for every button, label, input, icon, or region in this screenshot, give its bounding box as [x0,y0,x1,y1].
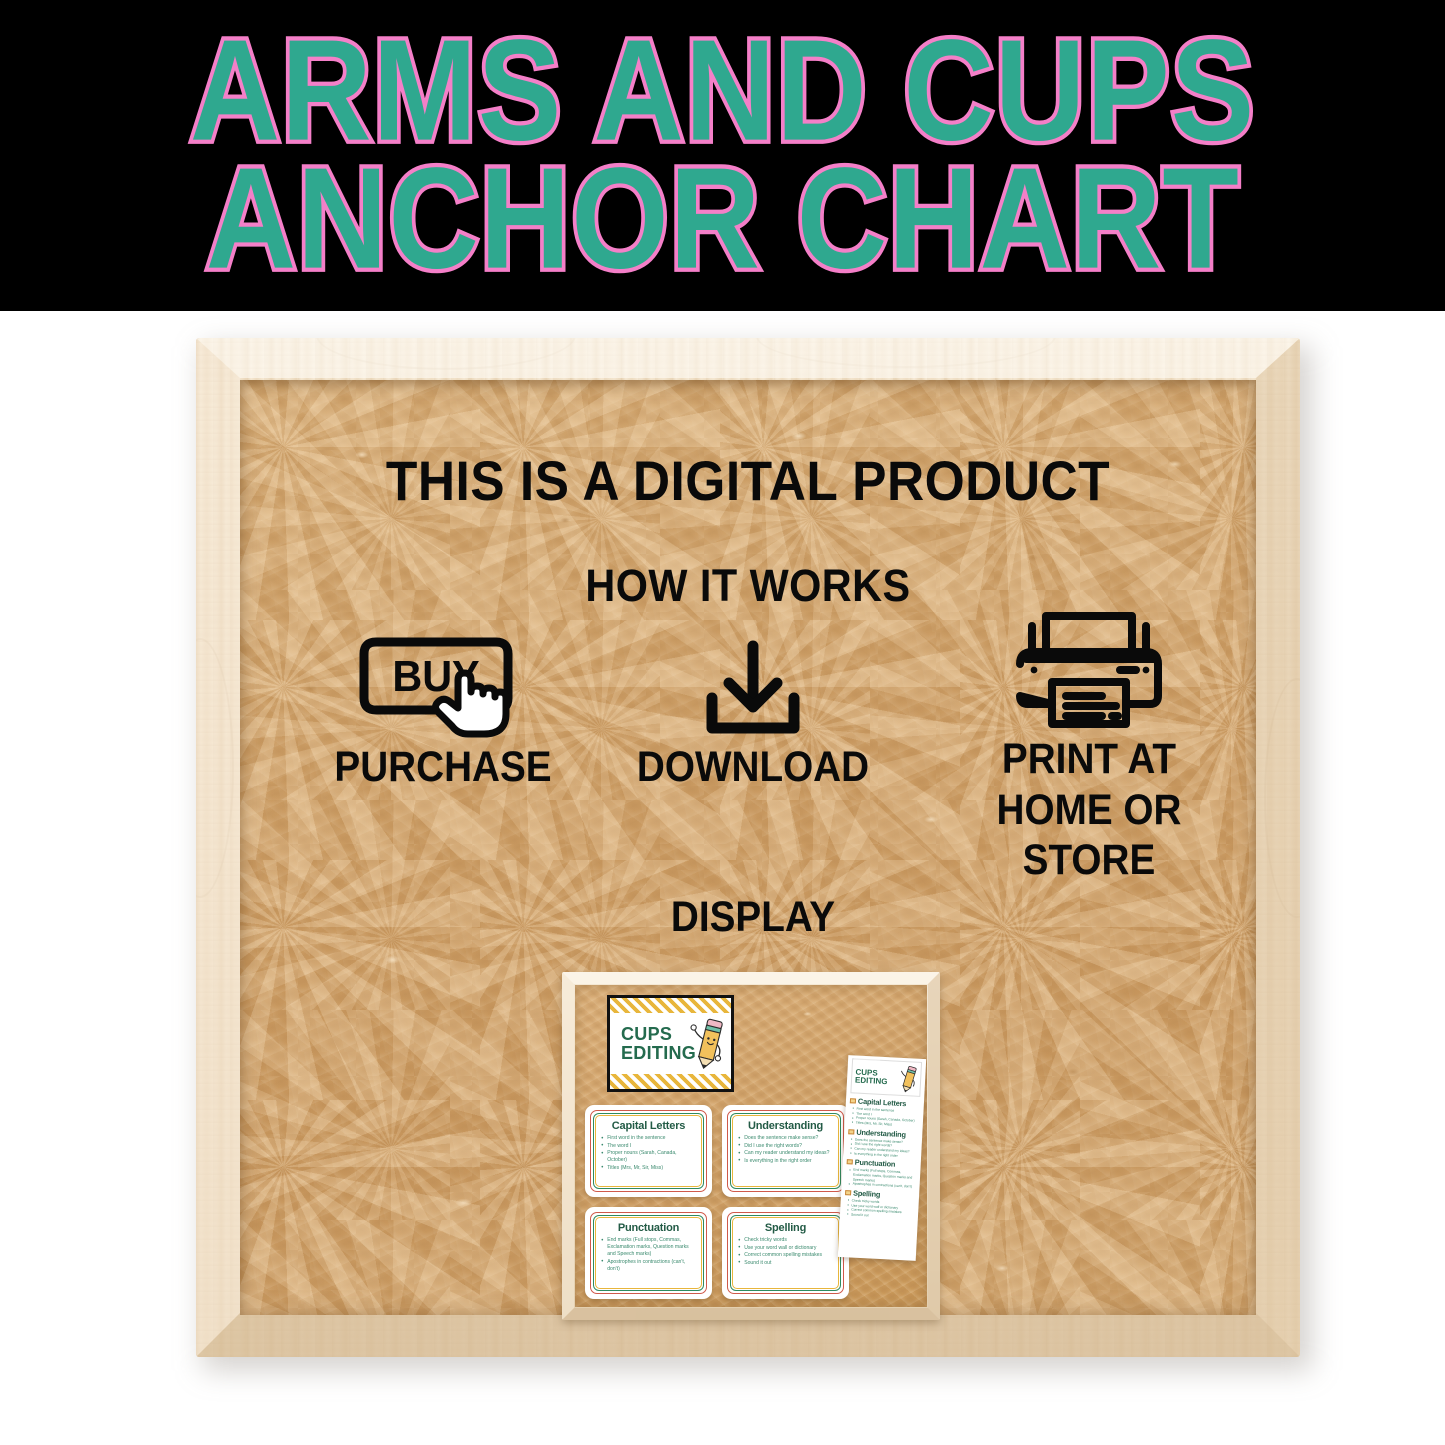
wooden-frame: THIS IS A DIGITAL PRODUCT HOW IT WORKS B… [196,338,1300,1357]
title-card-body: CUPS EDITING [610,1013,731,1074]
cups-editing-poster: CUPS EDITING [838,1055,926,1261]
pencil-character-icon [895,1064,919,1095]
step-purchase: BUY PURCHASE [278,622,608,793]
checklist-box-icon [850,1098,856,1103]
step-display-label: DISPLAY [623,892,884,943]
poster-list: Check tricky words Use your word wall or… [847,1198,915,1220]
page-title: THIS IS A DIGITAL PRODUCT [281,448,1216,513]
step-print-label: PRINT AT HOME OR STORE [941,734,1238,886]
poster-title-line-2: EDITING [855,1075,888,1086]
poster-list: End marks (Full stops, Commas, Exclamati… [848,1168,916,1190]
mini-card-spelling: Spelling Check tricky words Use your wor… [722,1207,849,1299]
mini-card-list: Check tricky words Use your word wall or… [738,1237,833,1267]
poster-section-title: Spelling [853,1189,881,1199]
list-item: Is everything in the right order [738,1158,833,1165]
checklist-box-icon [848,1129,854,1134]
mini-card-title: Punctuation [601,1222,696,1234]
mini-card-title: Understanding [738,1120,833,1132]
printer-icon [924,614,1254,734]
mini-card-list: Does the sentence make sense? Did I use … [738,1135,833,1165]
step-download-label: DOWNLOAD [623,742,884,793]
cork-surface: THIS IS A DIGITAL PRODUCT HOW IT WORKS B… [240,380,1256,1315]
poster-list: First word in the sentence The word I Pr… [852,1106,920,1128]
poster-section-understanding: Understanding Does the sentence make sen… [847,1127,918,1159]
display-photo-corkboard: CUPS EDITING [562,972,940,1320]
mini-card-list: End marks (Full stops, Commas, Exclamati… [601,1237,696,1273]
poster-section-spelling: Spelling Check tricky words Use your wor… [844,1188,915,1220]
section-subtitle: HOW IT WORKS [281,560,1216,612]
step-download: DOWNLOAD [608,622,898,793]
poster-header: CUPS EDITING [850,1058,922,1097]
list-item: Can my reader understand my ideas? [738,1150,833,1157]
step-purchase-label: PURCHASE [295,742,592,793]
title-banner: ARMS AND CUPS ANCHOR CHART [0,0,1445,311]
gold-checker-strip-bottom [610,1074,731,1089]
gold-checker-strip-top [610,998,731,1013]
list-item: Apostrophes in contractions (can't, don'… [601,1259,696,1273]
checklist-box-icon [847,1160,853,1165]
corkboard-graphic: THIS IS A DIGITAL PRODUCT HOW IT WORKS B… [196,338,1312,1371]
list-item: The word I [601,1143,696,1150]
step-display: DISPLAY [608,892,898,943]
list-item: First word in the sentence [601,1135,696,1142]
mini-card-title: Capital Letters [601,1120,696,1132]
list-item: Check tricky words [738,1237,833,1244]
mini-card-list: First word in the sentence The word I Pr… [601,1135,696,1172]
poster-list: Does the sentence make sense? Did I use … [850,1137,918,1159]
download-arrow-icon [608,622,898,742]
poster-section-punctuation: Punctuation End marks (Full stops, Comma… [845,1158,916,1190]
list-item: Does the sentence make sense? [738,1135,833,1142]
mini-card-title: Spelling [738,1222,833,1234]
list-item: Did I use the right words? [738,1143,833,1150]
title-card-line-1: CUPS [621,1024,672,1044]
poster-section-capital-letters: Capital Letters First word in the senten… [849,1096,920,1128]
list-item: Sound it out [738,1260,833,1267]
list-item: Use your word wall or dictionary [738,1245,833,1252]
list-item: Titles (Mrs, Mr, Sir, Miss) [601,1165,696,1172]
mini-card-understanding: Understanding Does the sentence make sen… [722,1105,849,1197]
title-card-heading: CUPS EDITING [610,1025,696,1063]
list-item: Proper nouns (Sarah, Canada, October) [601,1150,696,1164]
list-item: End marks (Full stops, Commas, Exclamati… [601,1237,696,1258]
cups-editing-title-card: CUPS EDITING [607,995,734,1092]
checklist-box-icon [845,1190,851,1195]
mini-cork-surface: CUPS EDITING [575,985,927,1307]
mini-card-capital-letters: Capital Letters First word in the senten… [585,1105,712,1197]
product-listing-image: ARMS AND CUPS ANCHOR CHART THIS IS A DIG… [0,0,1445,1445]
step-print: PRINT AT HOME OR STORE [924,614,1254,886]
mini-card-punctuation: Punctuation End marks (Full stops, Comma… [585,1207,712,1299]
poster-heading: CUPS EDITING [855,1068,888,1086]
pencil-character-icon [685,1016,727,1072]
list-item: Correct common spelling mistakes [738,1252,833,1259]
banner-title-line-2: ANCHOR CHART [205,149,1239,290]
buy-button-cursor-icon: BUY [278,622,608,742]
